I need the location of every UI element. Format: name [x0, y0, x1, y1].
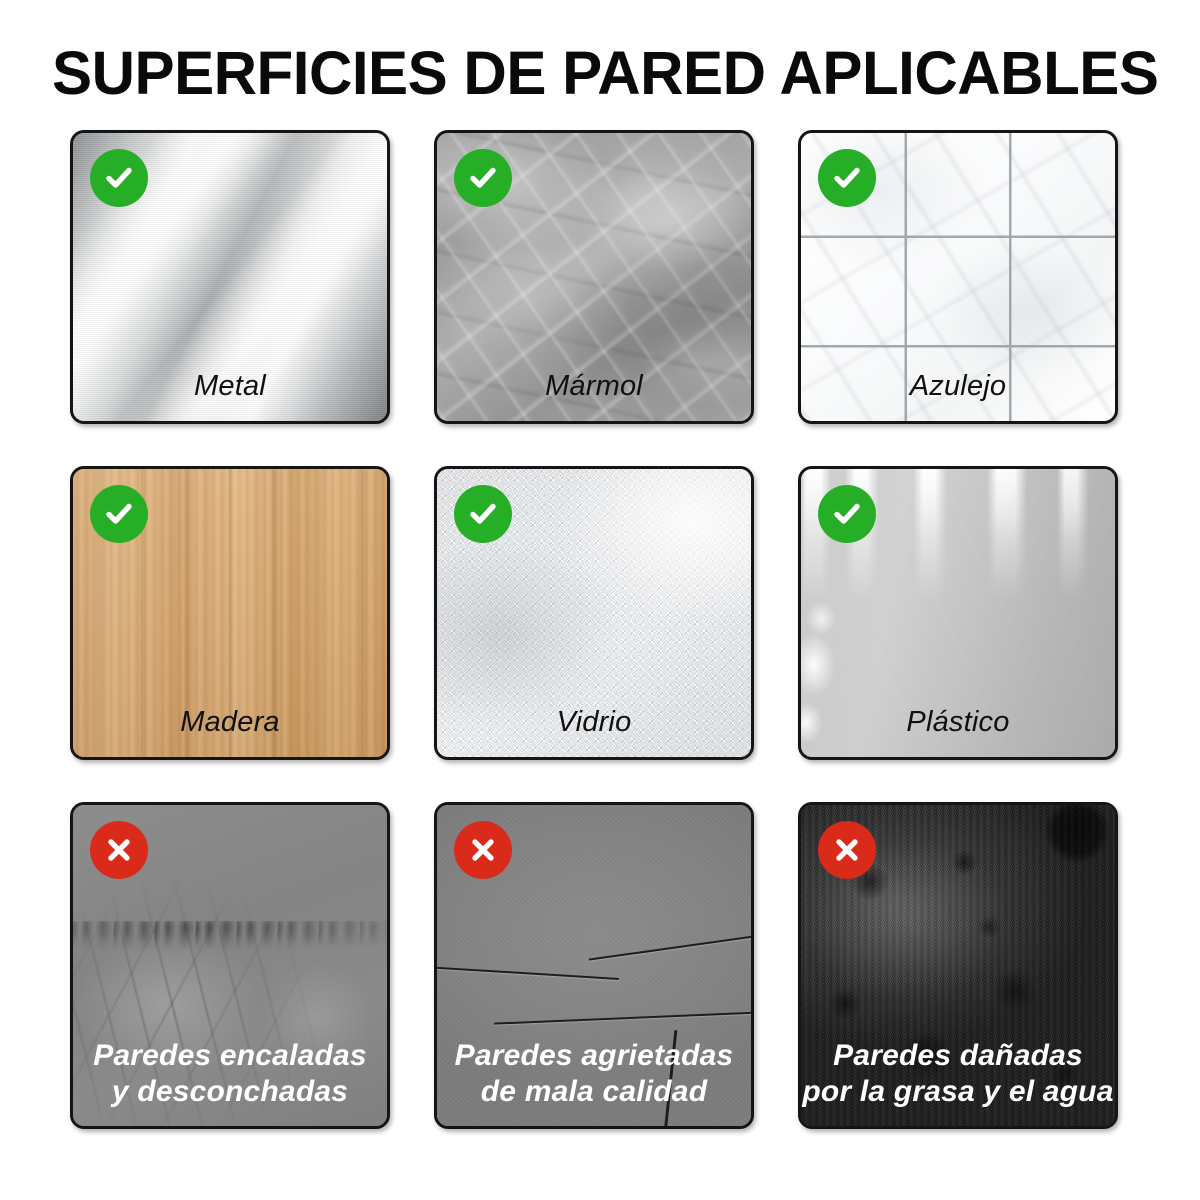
- x-circle-icon: [818, 821, 876, 879]
- check-circle-icon: [818, 149, 876, 207]
- surface-label-line1: Paredes encaladas: [93, 1039, 367, 1072]
- surface-label: Vidrio: [437, 705, 751, 739]
- check-circle-icon: [90, 485, 148, 543]
- surface-label: Plástico: [801, 705, 1115, 739]
- surface-label: Metal: [73, 369, 387, 403]
- surface-label: Madera: [73, 705, 387, 739]
- surface-label-line2: y desconchadas: [73, 1074, 387, 1110]
- surface-card-madera: Madera: [70, 466, 390, 760]
- check-circle-icon: [818, 485, 876, 543]
- surface-label-line1: Paredes dañadas: [833, 1039, 1083, 1072]
- surface-card-vidrio: Vidrio: [434, 466, 754, 760]
- surface-label: Paredes dañadas por la grasa y el agua: [801, 1038, 1115, 1110]
- surface-label: Paredes encaladas y desconchadas: [73, 1038, 387, 1110]
- x-circle-icon: [454, 821, 512, 879]
- surface-card-marmol: Mármol: [434, 130, 754, 424]
- surfaces-grid: Metal Mármol Azulejo: [70, 130, 1118, 1123]
- surface-card-plastico: Plástico: [798, 466, 1118, 760]
- surface-label: Azulejo: [801, 369, 1115, 403]
- surface-card-paredes-agrietadas: Paredes agrietadas de mala calidad: [434, 802, 754, 1129]
- infographic-page: SUPERFICIES DE PARED APLICABLES Metal Má…: [0, 0, 1200, 1200]
- page-title: SUPERFICIES DE PARED APLICABLES: [52, 37, 1136, 109]
- surface-label-line2: de mala calidad: [437, 1074, 751, 1110]
- surface-card-paredes-danadas: Paredes dañadas por la grasa y el agua: [798, 802, 1118, 1129]
- surface-card-metal: Metal: [70, 130, 390, 424]
- surface-label: Mármol: [437, 369, 751, 403]
- check-circle-icon: [90, 149, 148, 207]
- x-circle-icon: [90, 821, 148, 879]
- check-circle-icon: [454, 485, 512, 543]
- surface-label-line1: Paredes agrietadas: [455, 1039, 734, 1072]
- surface-card-paredes-encaladas: Paredes encaladas y desconchadas: [70, 802, 390, 1129]
- surface-label-line2: por la grasa y el agua: [801, 1074, 1115, 1110]
- surface-card-azulejo: Azulejo: [798, 130, 1118, 424]
- surface-label: Paredes agrietadas de mala calidad: [437, 1038, 751, 1110]
- check-circle-icon: [454, 149, 512, 207]
